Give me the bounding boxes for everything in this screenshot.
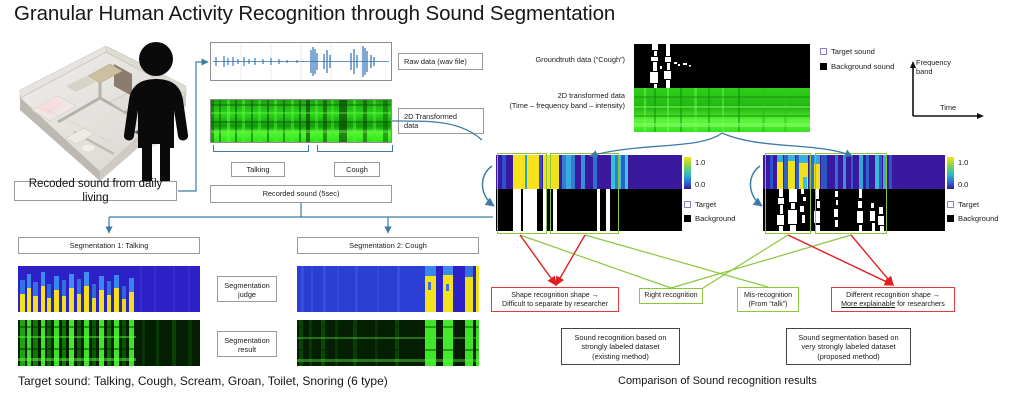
colorbar-existing [684,157,691,189]
segmentation-judge-box: Segmentation judge [217,276,277,302]
person-silhouette-icon [120,40,192,188]
transformed-data-label-l1: 2D Transformed [404,112,457,121]
raw-waveform-plot [210,42,392,81]
axis-frequency-label: Frequency band [916,58,951,76]
right-transformed-spectrogram [634,88,810,132]
callout-red-right-l1: Different recognition shape → [835,291,951,300]
green-region-existing-2 [550,153,619,234]
callout-red-right-rest: for researchers [895,300,945,308]
method-proposed-box: Sound segmentation based on very strongl… [786,328,911,365]
legend-target-sound: Target sound [820,46,875,57]
method-existing-l2: strongly labeled dataset [565,342,676,351]
room-caption-box: Recoded sound from daily living [14,181,177,201]
mini-legend-target-proposed: Target [947,199,979,210]
segmentation-result-box: Segmentation result [217,331,277,357]
method-proposed-l3: (proposed method) [790,352,907,361]
background-sound-swatch-icon [820,63,827,70]
callout-green-right: Mis-recognition (From “talk”) [737,287,799,312]
legend-background-sound: Background sound [820,61,894,72]
transformed-spectrogram [210,99,392,143]
right-transformed-label: 2D transformed data (Time – frequency ba… [500,91,625,110]
colorbar-proposed [947,157,954,189]
segmentation2-box: Segmentation 2: Cough [297,237,479,254]
green-region-proposed-1 [765,153,811,234]
colorbar-existing-min: 0.0 [695,180,705,189]
left-footer-caption: Target sound: Talking, Cough, Scream, Gr… [18,374,388,388]
cough-label: Cough [334,162,380,177]
page-title: Granular Human Activity Recognition thro… [14,2,615,26]
target-swatch-icon [684,201,691,208]
background-swatch-icon [947,215,954,222]
result-l1: Segmentation [221,336,273,345]
segmentation1-box: Segmentation 1: Talking [18,237,200,254]
method-proposed-l2: very strongly labeled dataset [790,342,907,351]
bracket-talking [213,145,309,152]
callout-red-right: Different recognition shape → More expla… [831,287,955,312]
transformed-data-label-box: 2D Transformed data [398,108,484,134]
method-existing-box: Sound recognition based on strongly labe… [561,328,680,365]
callout-green-left: Right recognition [639,288,703,304]
colorbar-proposed-min: 0.0 [958,180,968,189]
right-footer-caption: Comparison of Sound recognition results [618,375,817,387]
right-transformed-l1: 2D transformed data [500,91,625,101]
right-transformed-l2: (Time – frequency band – intensity) [500,101,625,111]
segmentation2-judge-spectrogram [297,266,479,312]
target-sound-swatch-icon [820,48,827,55]
axis-time-label: Time [940,103,956,113]
callout-red-left-l2: Difficult to separate by researcher [495,300,615,309]
recorded-sound-box: Recorded sound (5sec) [210,185,392,203]
background-swatch-icon [684,215,691,222]
bracket-cough [317,145,393,152]
groundtruth-mask [634,44,810,88]
callout-red-right-underlined: More explainable [841,300,895,308]
result-l2: result [221,345,273,354]
colorbar-proposed-max: 1.0 [958,158,968,167]
callout-green-right-l1: Mis-recognition [741,291,795,300]
transformed-data-label-l2: data [404,121,418,130]
judge-l2: judge [221,290,273,299]
raw-data-label: Raw data (wav file) [398,53,483,70]
callout-red-right-l2: More explainable for researchers [835,300,951,309]
mini-legend-background-proposed: Background [947,213,999,224]
mini-legend-background-existing: Background [684,213,736,224]
method-existing-l1: Sound recognition based on [565,333,676,342]
groundtruth-label: Groundtruth data (“Cough”) [520,55,625,65]
target-swatch-icon [947,201,954,208]
segmentation1-result-spectrogram [18,320,200,366]
colorbar-existing-max: 1.0 [695,158,705,167]
callout-red-left: Shape recognition shape → Difficult to s… [491,287,619,312]
method-existing-l3: (existing method) [565,352,676,361]
callout-green-right-l2: (From “talk”) [741,300,795,309]
segmentation1-judge-spectrogram [18,266,200,312]
segmentation2-result-spectrogram [297,320,479,366]
mini-legend-target-existing: Target [684,199,716,210]
green-region-existing-1 [497,153,547,234]
callout-red-left-l1: Shape recognition shape → [495,291,615,300]
talking-label: Talking [231,162,285,177]
judge-l1: Segmentation [221,281,273,290]
method-proposed-l1: Sound segmentation based on [790,333,907,342]
green-region-proposed-2 [815,153,887,234]
